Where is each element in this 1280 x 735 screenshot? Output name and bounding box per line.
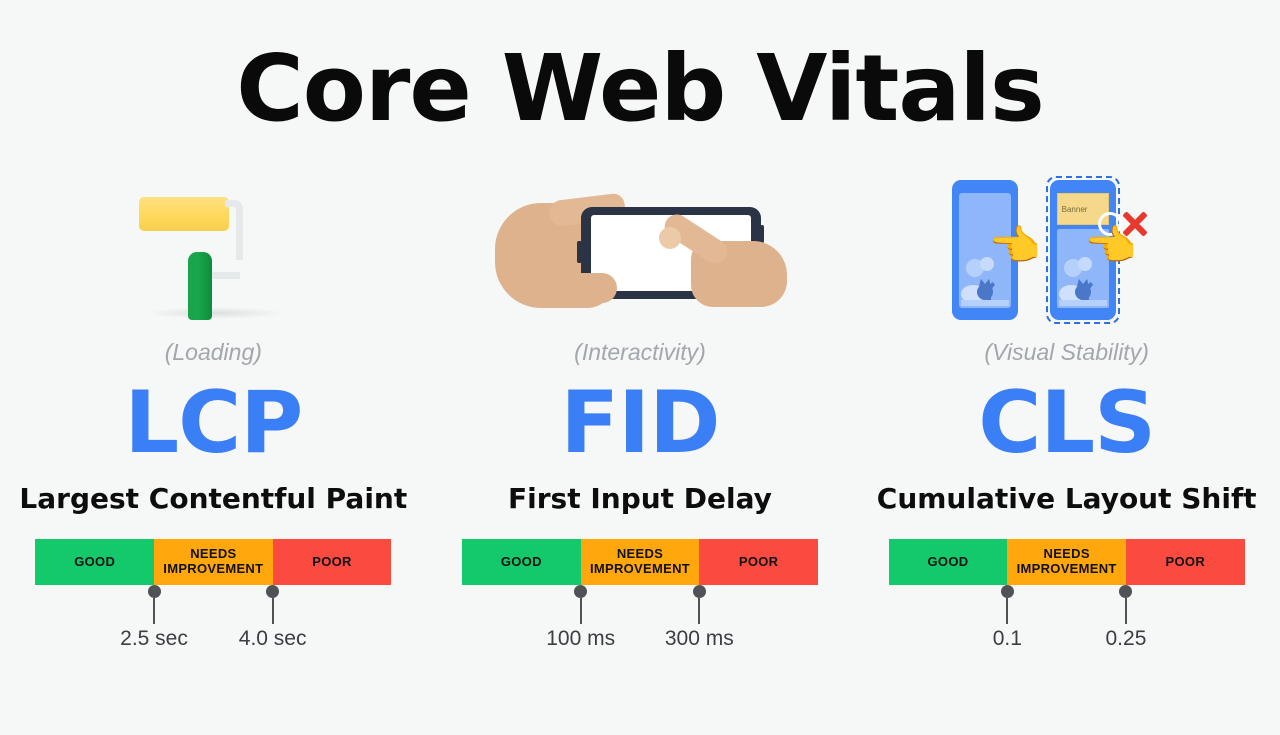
threshold-label-2: 4.0 sec xyxy=(239,627,307,651)
roller-shadow xyxy=(145,307,285,319)
phone-side-button-left xyxy=(577,241,582,263)
metric-full-name: Cumulative Layout Shift xyxy=(877,482,1257,515)
phone-side-button-right xyxy=(760,225,764,243)
pin-dot-icon xyxy=(574,585,587,598)
page-title: Core Web Vitals xyxy=(0,38,1280,139)
threshold-pin-2: 300 ms xyxy=(699,585,706,624)
threshold-label-2: 300 ms xyxy=(665,627,734,651)
pin-dot-icon xyxy=(693,585,706,598)
metric-aspect-label: (Loading) xyxy=(165,339,262,366)
metric-column-lcp: (Loading) LCP Largest Contentful Paint G… xyxy=(0,170,427,585)
threshold-pin-1: 100 ms xyxy=(581,585,588,624)
fid-illustration xyxy=(490,170,790,325)
pin-stem xyxy=(1006,598,1008,624)
pin-dot-icon xyxy=(1119,585,1132,598)
metrics-columns: (Loading) LCP Largest Contentful Paint G… xyxy=(0,170,1280,585)
rating-bar: GOOD NEEDS IMPROVEMENT POOR xyxy=(889,539,1245,585)
threshold-label-1: 100 ms xyxy=(546,627,615,651)
cls-illustration: Banner xyxy=(917,170,1217,325)
threshold-pin-2: 4.0 sec xyxy=(273,585,280,624)
red-x-icon xyxy=(1120,209,1150,239)
pin-stem xyxy=(580,598,582,624)
layout-shift-phones-icon: Banner xyxy=(952,175,1182,325)
paint-roller-icon xyxy=(133,180,293,325)
left-hand-finger xyxy=(555,273,617,303)
metric-acronym: CLS xyxy=(978,380,1155,466)
rating-bar: GOOD NEEDS IMPROVEMENT POOR xyxy=(462,539,818,585)
threshold-label-1: 0.1 xyxy=(993,627,1022,651)
pin-stem xyxy=(698,598,700,624)
threshold-pin-1: 2.5 sec xyxy=(154,585,161,624)
pin-dot-icon xyxy=(148,585,161,598)
threshold-pin-1: 0.1 xyxy=(1007,585,1014,624)
right-hand-fingertip xyxy=(659,227,681,249)
lcp-illustration xyxy=(63,170,363,325)
roller-grip xyxy=(188,252,212,320)
threshold-bar-cls: GOOD NEEDS IMPROVEMENT POOR 0.1 0.25 xyxy=(889,539,1245,585)
pin-dot-icon xyxy=(266,585,279,598)
rating-segment-poor: POOR xyxy=(273,539,392,585)
metric-aspect-label: (Interactivity) xyxy=(574,339,706,366)
threshold-bar-lcp: GOOD NEEDS IMPROVEMENT POOR 2.5 sec 4.0 … xyxy=(35,539,391,585)
threshold-label-1: 2.5 sec xyxy=(120,627,188,651)
rating-segment-needs-improvement: NEEDS IMPROVEMENT xyxy=(154,539,273,585)
threshold-label-2: 0.25 xyxy=(1106,627,1147,651)
metric-acronym: LCP xyxy=(124,380,302,466)
pin-stem xyxy=(272,598,274,624)
rating-segment-needs-improvement: NEEDS IMPROVEMENT xyxy=(1007,539,1126,585)
rating-bar: GOOD NEEDS IMPROVEMENT POOR xyxy=(35,539,391,585)
pin-stem xyxy=(153,598,155,624)
rating-segment-poor: POOR xyxy=(699,539,818,585)
rating-segment-poor: POOR xyxy=(1126,539,1245,585)
metric-full-name: First Input Delay xyxy=(508,482,772,515)
metric-acronym: FID xyxy=(560,380,719,466)
roller-arm-upper xyxy=(225,200,243,260)
pointing-hand-icon-left: 👉 xyxy=(990,225,1042,267)
rating-segment-needs-improvement: NEEDS IMPROVEMENT xyxy=(581,539,700,585)
threshold-pin-2: 0.25 xyxy=(1126,585,1133,624)
hands-tapping-phone-icon xyxy=(495,185,785,325)
pin-dot-icon xyxy=(1001,585,1014,598)
threshold-bar-fid: GOOD NEEDS IMPROVEMENT POOR 100 ms 300 m… xyxy=(462,539,818,585)
rating-segment-good: GOOD xyxy=(889,539,1008,585)
roller-pad xyxy=(139,197,229,231)
metric-full-name: Largest Contentful Paint xyxy=(19,482,407,515)
metric-aspect-label: (Visual Stability) xyxy=(984,339,1148,366)
metric-column-cls: Banner xyxy=(853,170,1280,585)
pin-stem xyxy=(1125,598,1127,624)
rating-segment-good: GOOD xyxy=(35,539,154,585)
rating-segment-good: GOOD xyxy=(462,539,581,585)
metric-column-fid: (Interactivity) FID First Input Delay GO… xyxy=(427,170,854,585)
